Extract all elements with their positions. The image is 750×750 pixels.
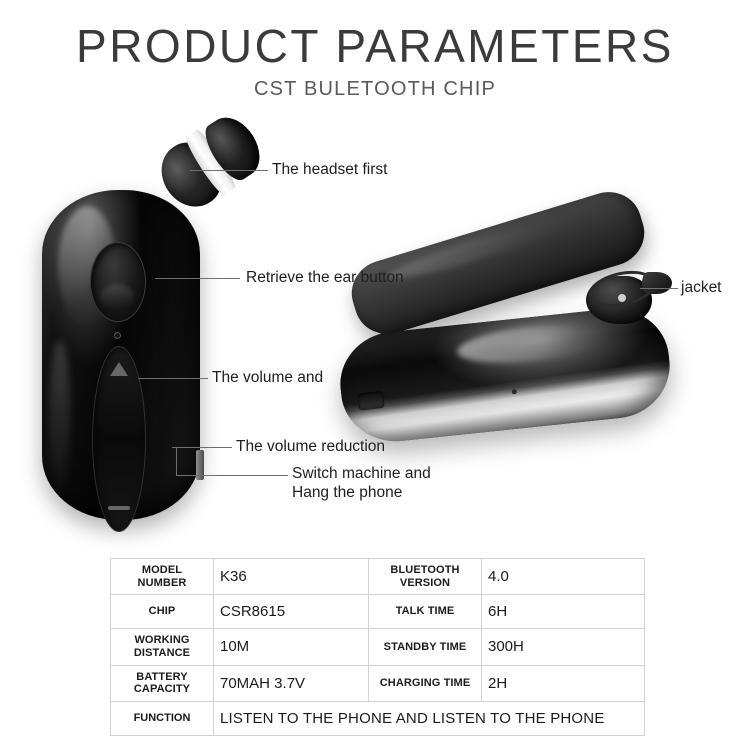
leader-line-volume-and — [138, 378, 208, 379]
spec-label-working-distance: WORKING DISTANCE — [111, 629, 214, 665]
spec-label-model-number: MODEL NUMBER — [111, 559, 214, 595]
body-highlight-secondary — [50, 340, 70, 490]
callout-retrieve-ear-button: Retrieve the ear button — [246, 269, 404, 288]
spec-value-battery-capacity: 70MAH 3.7V — [214, 665, 369, 701]
callout-headset-first: The headset first — [272, 161, 387, 180]
volume-up-icon — [110, 362, 128, 376]
product-parameters-page: PRODUCT PARAMETERS CST BULETOOTH CHIP — [0, 0, 750, 750]
callout-volume-and: The volume and — [212, 369, 323, 388]
callout-switch-machine-hang-phone: Switch machine and Hang the phone — [292, 465, 431, 503]
spec-value-chip: CSR8615 — [214, 595, 369, 629]
spec-value-standby-time: 300H — [482, 629, 645, 665]
spec-value-working-distance: 10M — [214, 629, 369, 665]
product-illustration-area: The headset first Retrieve the ear butto… — [0, 115, 750, 540]
spec-value-bluetooth-version: 4.0 — [482, 559, 645, 595]
page-subtitle: CST BULETOOTH CHIP — [0, 70, 750, 101]
spec-label-standby-time: STANDBY TIME — [369, 629, 482, 665]
spec-label-function: FUNCTION — [111, 701, 214, 735]
spec-label-battery-capacity: BATTERY CAPACITY — [111, 665, 214, 701]
specification-table: MODEL NUMBER K36 BLUETOOTH VERSION 4.0 C… — [110, 558, 645, 736]
spec-label-charging-time: CHARGING TIME — [369, 665, 482, 701]
spec-label-bluetooth-version: BLUETOOTH VERSION — [369, 559, 482, 595]
callout-jacket: jacket — [681, 279, 722, 298]
microphone-hole-icon — [512, 389, 517, 394]
leader-line-jacket — [640, 288, 678, 289]
usb-charging-port-icon — [357, 391, 385, 411]
table-row: MODEL NUMBER K36 BLUETOOTH VERSION 4.0 — [111, 559, 645, 595]
leader-line-volume-reduction — [172, 447, 232, 448]
spec-value-function: LISTEN TO THE PHONE AND LISTEN TO THE PH… — [214, 701, 645, 735]
jacket-clip-tip — [642, 272, 672, 294]
spec-value-model-number: K36 — [214, 559, 369, 595]
volume-rocker-button[interactable] — [92, 346, 146, 532]
leader-line-retrieve-ear — [155, 278, 240, 279]
leader-line-switch-hang-vertical — [176, 447, 177, 475]
table-row: BATTERY CAPACITY 70MAH 3.7V CHARGING TIM… — [111, 665, 645, 701]
leader-line-switch-hang — [176, 475, 288, 476]
spec-value-charging-time: 2H — [482, 665, 645, 701]
led-indicator-icon — [114, 332, 121, 339]
spec-label-chip: CHIP — [111, 595, 214, 629]
page-header: PRODUCT PARAMETERS CST BULETOOTH CHIP — [0, 0, 750, 101]
retract-button[interactable] — [90, 242, 146, 322]
base-highlight — [456, 319, 609, 368]
leader-line-headset-first — [190, 170, 268, 171]
spec-value-talk-time: 6H — [482, 595, 645, 629]
headset-body-image — [30, 115, 270, 535]
spec-label-talk-time: TALK TIME — [369, 595, 482, 629]
callout-volume-reduction: The volume reduction — [236, 438, 385, 457]
page-title: PRODUCT PARAMETERS — [0, 0, 750, 70]
volume-down-icon — [108, 506, 130, 510]
clip-arm-highlight — [384, 212, 572, 287]
table-row-function: FUNCTION LISTEN TO THE PHONE AND LISTEN … — [111, 701, 645, 735]
clip-hinge-pin — [618, 294, 626, 302]
table-row: WORKING DISTANCE 10M STANDBY TIME 300H — [111, 629, 645, 665]
table-row: CHIP CSR8615 TALK TIME 6H — [111, 595, 645, 629]
specification-table-container: MODEL NUMBER K36 BLUETOOTH VERSION 4.0 C… — [110, 558, 645, 736]
headset-clip-image — [330, 210, 710, 460]
